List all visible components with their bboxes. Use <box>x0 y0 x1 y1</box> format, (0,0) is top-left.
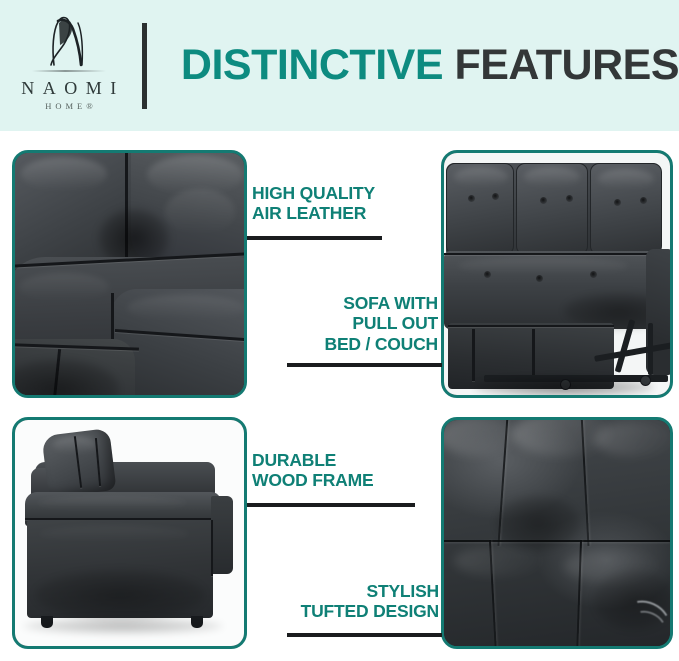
brand-logo: NAOMI HOME® <box>0 0 138 131</box>
feature-photo-high-quality-air-leather <box>12 150 247 398</box>
photo-pull-out-bed <box>444 153 670 395</box>
brand-name: NAOMI <box>13 79 125 97</box>
page-title-accent: DISTINCTIVE <box>181 41 443 89</box>
callout-label-sofa-with-pull-out-bed: SOFA WITH PULL OUT BED / COUCH <box>280 293 438 354</box>
callout-label-stylish-tufted-design: STYLISH TUFTED DESIGN <box>276 581 439 622</box>
naomi-n-monogram-icon <box>38 15 100 67</box>
callout-rule-sofa-with-pull-out-bed <box>287 363 442 367</box>
brand-subtitle: HOME® <box>41 102 97 111</box>
feature-photo-stylish-tufted-design <box>441 417 673 649</box>
photo-sofa-side-profile <box>15 420 244 646</box>
logo-underline <box>32 70 106 72</box>
callout-label-durable-wood-frame: DURABLE WOOD FRAME <box>252 450 427 491</box>
callout-rule-durable-wood-frame <box>247 503 415 507</box>
callout-rule-high-quality-air-leather <box>247 236 382 240</box>
header-divider <box>142 23 147 109</box>
page-header: NAOMI HOME® DISTINCTIVE FEATURES <box>0 0 679 131</box>
page-title: DISTINCTIVE FEATURES <box>181 44 679 87</box>
photo-tufted-leather-closeup <box>444 420 670 646</box>
callout-label-high-quality-air-leather: HIGH QUALITY AIR LEATHER <box>252 183 412 224</box>
page-title-dark: FEATURES <box>454 41 679 89</box>
callout-rule-stylish-tufted-design <box>287 633 442 637</box>
feature-photo-durable-wood-frame <box>12 417 247 649</box>
feature-photo-sofa-with-pull-out-bed <box>441 150 673 398</box>
photo-air-leather-closeup <box>15 153 244 395</box>
